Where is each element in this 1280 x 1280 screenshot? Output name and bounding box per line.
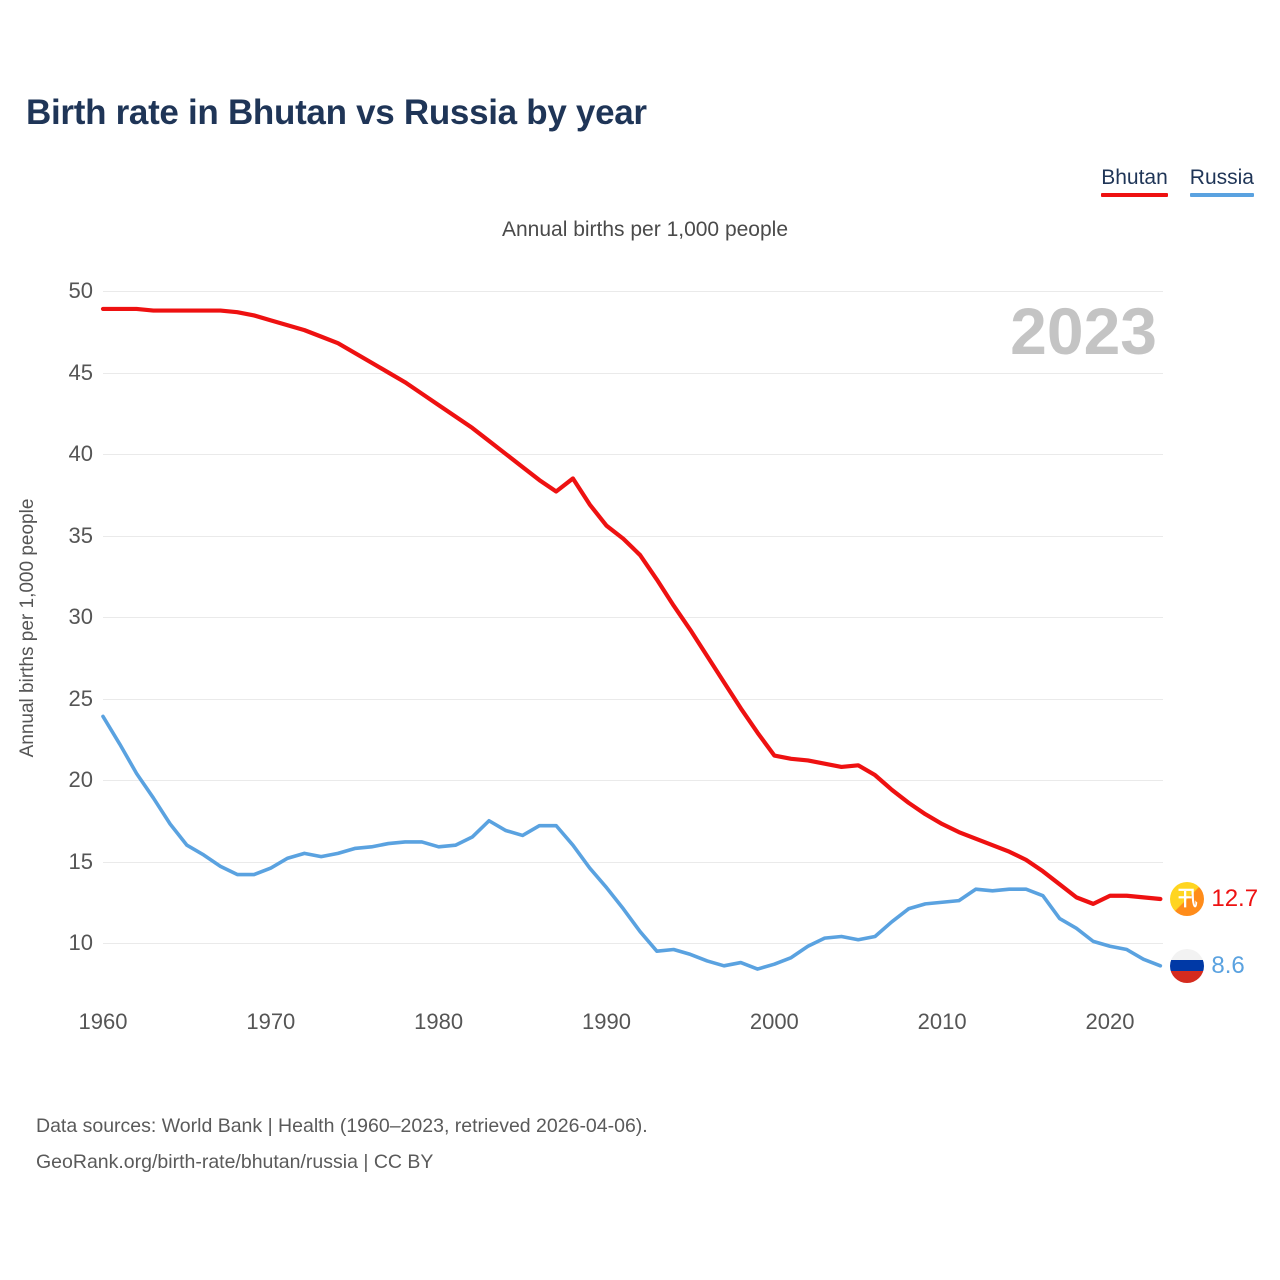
x-axis-tick-label: 1990 (547, 1009, 667, 1035)
line-russia (103, 716, 1160, 969)
footer-attribution: GeoRank.org/birth-rate/bhutan/russia | C… (36, 1144, 648, 1180)
x-axis-tick-label: 1970 (211, 1009, 331, 1035)
x-axis-tick-label: 2010 (882, 1009, 1002, 1035)
y-axis-tick-label: 30 (0, 604, 93, 630)
y-axis-tick-label: 40 (0, 441, 93, 467)
line-bhutan (103, 309, 1160, 904)
russia-flag-icon (1170, 949, 1204, 983)
y-axis-tick-label: 25 (0, 686, 93, 712)
y-axis-tick-label: 50 (0, 278, 93, 304)
endpoint-russia[interactable]: 8.6 (1170, 949, 1244, 983)
chart-subtitle: Annual births per 1,000 people (0, 218, 1280, 242)
y-axis-tick-label: 45 (0, 360, 93, 386)
y-axis-tick-label: 35 (0, 523, 93, 549)
y-axis-tick-label: 10 (0, 930, 93, 956)
x-axis-tick-label: 2000 (714, 1009, 834, 1035)
x-axis-tick-label: 2020 (1050, 1009, 1170, 1035)
chart-legend: Bhutan Russia (1101, 166, 1254, 197)
legend-swatch-russia (1190, 193, 1254, 197)
gridline (103, 943, 1163, 944)
y-axis-tick-label: 20 (0, 767, 93, 793)
x-axis-tick-label: 1980 (379, 1009, 499, 1035)
legend-label-russia: Russia (1190, 166, 1254, 190)
legend-item-bhutan[interactable]: Bhutan (1101, 166, 1168, 197)
legend-item-russia[interactable]: Russia (1190, 166, 1254, 197)
bhutan-flag-icon: 卂 (1170, 882, 1204, 916)
chart-container: Birth rate in Bhutan vs Russia by year B… (0, 0, 1280, 1280)
endpoint-value-bhutan: 12.7 (1211, 885, 1258, 913)
footer: Data sources: World Bank | Health (1960–… (36, 1108, 648, 1180)
endpoint-value-russia: 8.6 (1211, 952, 1244, 980)
y-axis-tick-label: 15 (0, 849, 93, 875)
footer-data-sources: Data sources: World Bank | Health (1960–… (36, 1108, 648, 1144)
endpoint-bhutan[interactable]: 卂 12.7 (1170, 882, 1258, 916)
legend-swatch-bhutan (1101, 193, 1168, 197)
series-lines (103, 291, 1163, 943)
page-title: Birth rate in Bhutan vs Russia by year (26, 93, 647, 133)
plot-area: 101520253035404550 196019701980199020002… (103, 291, 1163, 943)
legend-label-bhutan: Bhutan (1101, 166, 1168, 190)
x-axis-tick-label: 1960 (43, 1009, 163, 1035)
